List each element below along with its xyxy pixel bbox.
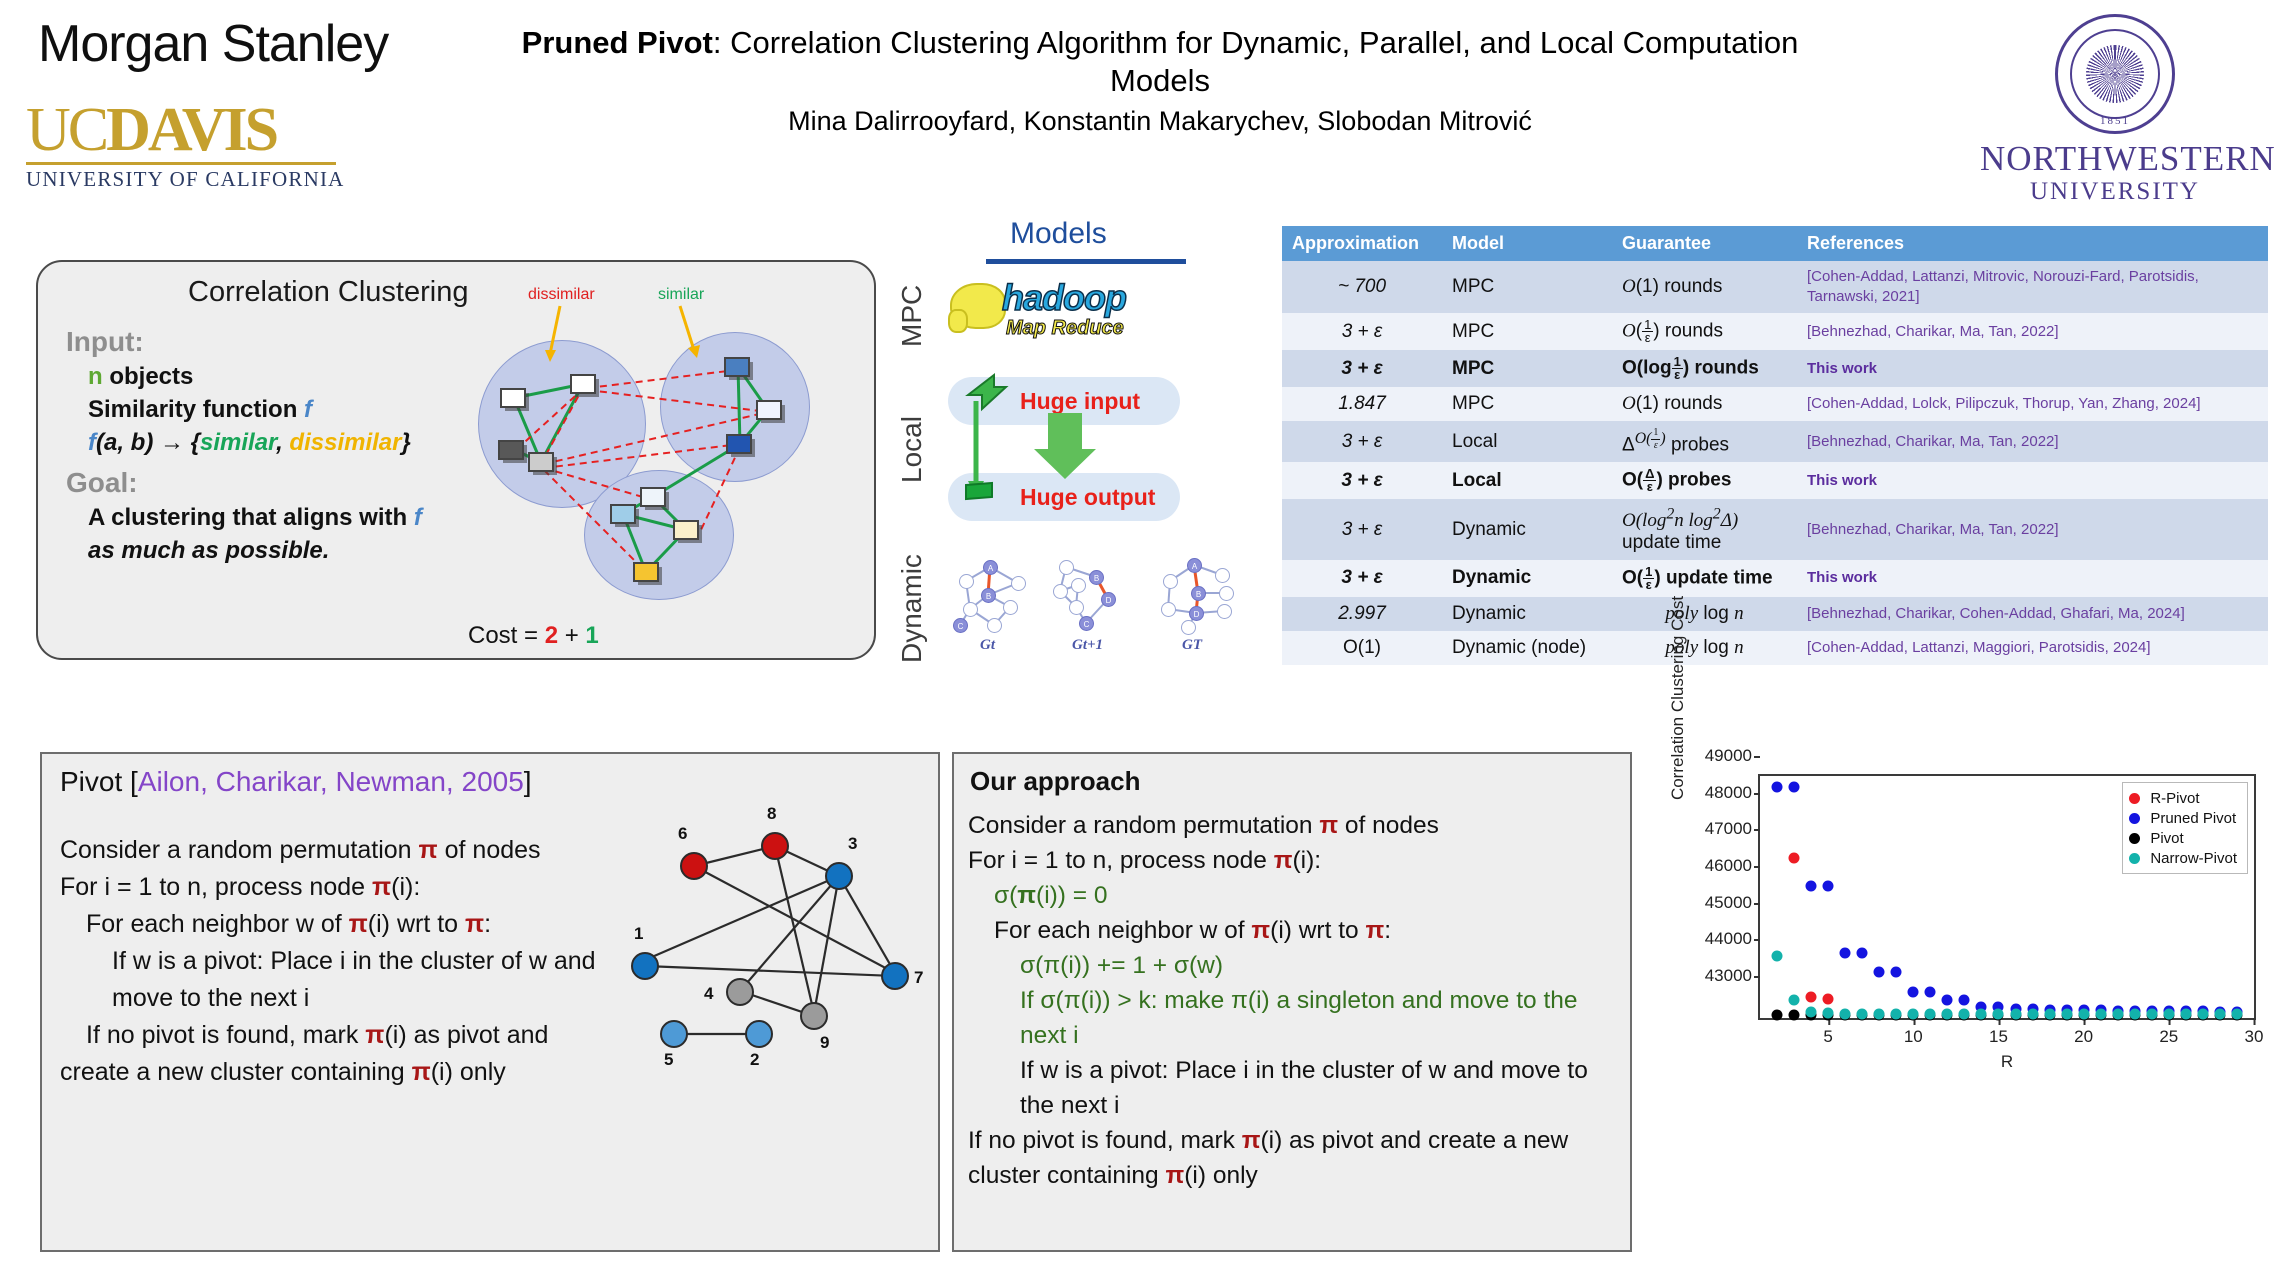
chart-point <box>1925 987 1936 998</box>
seal-year-text: 1851 <box>2058 115 2172 127</box>
dynamic-graph-3: A B D <box>1158 555 1248 631</box>
page-title: Pruned Pivot: Correlation Clustering Alg… <box>470 24 1850 100</box>
pivot-node-label-5: 5 <box>664 1050 673 1070</box>
hadoop-wordmark: hadoop <box>1002 277 1126 319</box>
cost-red-value: 2 <box>545 622 558 649</box>
flow-arrows <box>948 365 1248 545</box>
brace-close: } <box>401 429 410 456</box>
morgan-stanley-logo: Morgan Stanley <box>38 14 388 74</box>
pivot-line-2: For i = 1 to n, process node π(i): <box>60 869 600 906</box>
label-similar: similar <box>658 286 704 304</box>
cell-references: [Behnezhad, Charikar, Ma, Tan, 2022] <box>1797 421 2268 462</box>
column-header-guarantee: Guarantee <box>1612 226 1797 261</box>
chart-point <box>2129 1008 2140 1019</box>
uc-davis-subtitle: UNIVERSITY OF CALIFORNIA <box>26 167 345 192</box>
cell-approximation: 3 + ε <box>1282 313 1442 350</box>
object-cube <box>673 520 699 540</box>
northwestern-subtitle: UNIVERSITY <box>1980 178 2250 206</box>
chart-point <box>2095 1008 2106 1019</box>
chart-point <box>1857 947 1868 958</box>
chart-point <box>2044 1008 2055 1019</box>
results-scatter-chart: Correlation Clustering Cost 430004400045… <box>1640 760 2270 1080</box>
chart-point <box>1908 1008 1919 1019</box>
cell-approximation: 3 + ε <box>1282 560 1442 597</box>
chart-point <box>1857 1008 1868 1019</box>
legend-label: R-Pivot <box>2150 790 2199 807</box>
graph-node <box>987 618 1002 633</box>
approach-line-7: If w is a pivot: Place i in the cluster … <box>968 1053 1618 1123</box>
cell-approximation: 3 + ε <box>1282 462 1442 499</box>
graph-node <box>1011 576 1026 591</box>
chart-point <box>1823 1008 1834 1019</box>
similar-token: similar <box>200 429 276 456</box>
pivot-title-close: ] <box>524 766 532 797</box>
object-cube <box>528 452 554 472</box>
pivot-node-3 <box>825 862 853 890</box>
input-line-signature: f(a, b) → {similar, dissimilar} <box>66 426 536 459</box>
table-row: 2.997 Dynamic poly log n [Behnezhad, Cha… <box>1282 597 2268 631</box>
title-emphasis: Pruned Pivot <box>522 25 713 60</box>
cell-model: Local <box>1442 421 1612 462</box>
pivot-title: Pivot [Ailon, Charikar, Newman, 2005] <box>60 766 532 798</box>
chart-y-tick: 45000 <box>1705 893 1752 913</box>
graph-node <box>1053 584 1068 599</box>
column-header-approximation: Approximation <box>1282 226 1442 261</box>
cell-references: This work <box>1797 560 2268 597</box>
chart-point <box>2010 1008 2021 1019</box>
chart-plot-area: Correlation Clustering Cost 430004400045… <box>1758 774 2256 1020</box>
cell-guarantee: O(1) rounds <box>1612 387 1797 421</box>
cell-guarantee: O(log1ε) rounds <box>1612 350 1797 387</box>
f-args: (a, b) → { <box>96 429 200 456</box>
object-cube <box>500 388 526 408</box>
cell-approximation: 3 + ε <box>1282 499 1442 559</box>
chart-point <box>1806 991 1817 1002</box>
cell-references: [Cohen-Addad, Lattanzi, Mitrovic, Norouz… <box>1797 261 2268 313</box>
mapreduce-wordmark: Map Reduce <box>1006 317 1124 340</box>
pivot-node-label-8: 8 <box>767 804 776 824</box>
table-row: ~ 700 MPC O(1) rounds [Cohen-Addad, Latt… <box>1282 261 2268 313</box>
graph-node <box>1069 600 1084 615</box>
chart-x-tick: 15 <box>1989 1027 2008 1047</box>
cell-references: [Behnezhad, Charikar, Cohen-Addad, Ghafa… <box>1797 597 2268 631</box>
table-row: 1.847 MPC O(1) rounds [Cohen-Addad, Lolc… <box>1282 387 2268 421</box>
cell-model: MPC <box>1442 387 1612 421</box>
pivot-graph-edges <box>612 778 932 1118</box>
graph-node-a: A <box>983 560 998 575</box>
chart-x-axis-label: R <box>1760 1052 2254 1072</box>
chart-point <box>1993 1008 2004 1019</box>
cell-approximation: 3 + ε <box>1282 421 1442 462</box>
cell-model: Dynamic <box>1442 597 1612 631</box>
our-approach-text: Consider a random permutation π of nodes… <box>968 808 1618 1193</box>
graph-node-d: D <box>1189 606 1204 621</box>
legend-label: Narrow-Pivot <box>2150 850 2237 867</box>
chart-point <box>1806 1006 1817 1017</box>
graph-node <box>1181 620 1196 635</box>
pivot-line-3: For each neighbor w of π(i) wrt to π: <box>60 906 600 943</box>
cell-approximation: O(1) <box>1282 631 1442 665</box>
table-row: 3 + ε Dynamic O(log2n log2Δ)update time … <box>1282 499 2268 559</box>
cell-approximation: 1.847 <box>1282 387 1442 421</box>
chart-point <box>1891 1008 1902 1019</box>
chart-point <box>2214 1008 2225 1019</box>
chart-point <box>1840 947 1851 958</box>
clustering-diagram: dissimilar similar <box>468 292 868 632</box>
northwestern-logo: 1851 NORTHWESTERN UNIVERSITY <box>1980 14 2250 206</box>
chart-y-tick: 46000 <box>1705 856 1752 876</box>
chart-point <box>1789 994 1800 1005</box>
dissimilar-token: dissimilar <box>289 429 401 456</box>
graph-node <box>1219 586 1234 601</box>
approach-line-5: σ(π(i)) += 1 + σ(w) <box>968 948 1618 983</box>
comma-token: , <box>276 429 289 456</box>
correlation-clustering-panel: Correlation Clustering Input: n objects … <box>36 260 876 660</box>
dynamic-graph-1: A B C <box>952 555 1042 631</box>
graph-node <box>1059 560 1074 575</box>
pivot-node-label-9: 9 <box>820 1033 829 1053</box>
chart-legend: R-PivotPruned PivotPivotNarrow-Pivot <box>2122 782 2248 874</box>
model-label-local: Local <box>896 416 928 483</box>
graph-node <box>963 602 978 617</box>
chart-point <box>1959 1008 1970 1019</box>
label-dissimilar: dissimilar <box>528 286 595 304</box>
goal-text: A clustering that aligns with <box>88 504 414 531</box>
cell-model: Dynamic (node) <box>1442 631 1612 665</box>
chart-point <box>1874 1008 1885 1019</box>
chart-y-tick: 44000 <box>1705 929 1752 949</box>
cost-green-value: 1 <box>585 622 598 649</box>
pivot-node-label-6: 6 <box>678 824 687 844</box>
pivot-node-label-4: 4 <box>704 984 713 1004</box>
legend-item[interactable]: Narrow-Pivot <box>2129 848 2237 868</box>
table-header-row: Approximation Model Guarantee References <box>1282 226 2268 261</box>
chart-point <box>1942 1008 1953 1019</box>
chart-point <box>1925 1008 1936 1019</box>
chart-point <box>1772 951 1783 962</box>
approach-line-8: If no pivot is found, mark π(i) as pivot… <box>968 1123 1618 1193</box>
chart-point <box>2146 1008 2157 1019</box>
correlation-clustering-title: Correlation Clustering <box>188 276 468 309</box>
results-table: Approximation Model Guarantee References… <box>1282 226 2268 665</box>
pivot-node-label-3: 3 <box>848 834 857 854</box>
pivot-line-1: Consider a random permutation π of nodes <box>60 832 600 869</box>
object-cube <box>610 504 636 524</box>
cell-guarantee: O(1ε) update time <box>1612 560 1797 597</box>
chart-point <box>1959 995 1970 1006</box>
graph-node-a: A <box>1187 558 1202 573</box>
cost-prefix: Cost = <box>468 622 545 649</box>
uc-davis-logo: UCDAVIS UNIVERSITY OF CALIFORNIA <box>26 100 345 192</box>
object-cube <box>640 487 666 507</box>
graph-node <box>1215 568 1230 583</box>
graph-node <box>1003 600 1018 615</box>
dynamic-graph-2: B D C <box>1050 555 1140 631</box>
f-symbol-2: f <box>88 429 96 456</box>
cell-guarantee: poly log n <box>1612 597 1797 631</box>
graph-node-c: C <box>1079 616 1094 631</box>
chart-point <box>1823 881 1834 892</box>
chart-y-axis-label: Correlation Clustering Cost <box>1668 578 1688 818</box>
chart-x-tick: 20 <box>2074 1027 2093 1047</box>
models-underline <box>986 259 1186 264</box>
input-heading: Input: <box>66 324 536 360</box>
chart-x-tick: 5 <box>1823 1027 1832 1047</box>
cell-approximation: 3 + ε <box>1282 350 1442 387</box>
pivot-line-4: If w is a pivot: Place i in the cluster … <box>60 943 600 1017</box>
approach-line-2: For i = 1 to n, process node π(i): <box>968 843 1618 878</box>
pivot-node-label-2: 2 <box>750 1050 759 1070</box>
goal-line-1: A clustering that aligns with f <box>66 501 536 534</box>
cost-label: Cost = 2 + 1 <box>468 622 599 650</box>
f-symbol-3: f <box>414 504 422 531</box>
cell-approximation: ~ 700 <box>1282 261 1442 313</box>
graph-node-b: B <box>1089 570 1104 585</box>
authors-line: Mina Dalirrooyfard, Konstantin Makaryche… <box>470 103 1850 139</box>
object-cube <box>633 562 659 582</box>
table-row: 3 + ε Local ΔO(1ε) probes [Behnezhad, Ch… <box>1282 421 2268 462</box>
input-line-similarity: Similarity function f <box>66 393 536 426</box>
model-label-mpc: MPC <box>896 285 928 347</box>
chart-x-tick: 25 <box>2159 1027 2178 1047</box>
chart-point <box>2061 1008 2072 1019</box>
chart-point <box>1823 993 1834 1004</box>
pivot-algorithm-text: Consider a random permutation π of nodes… <box>60 832 600 1091</box>
uc-davis-davis-text: DAVIS <box>106 96 276 164</box>
pivot-title-text: Pivot [ <box>60 766 138 797</box>
chart-point <box>1789 782 1800 793</box>
graph-node <box>1217 604 1232 619</box>
graph-node-b: B <box>981 588 996 603</box>
pivot-node-9 <box>800 1002 828 1030</box>
title-remainder: : Correlation Clustering Algorithm for D… <box>713 25 1799 98</box>
cell-guarantee: O(1ε) rounds <box>1612 313 1797 350</box>
correlation-clustering-body: Input: n objects Similarity function f f… <box>66 324 536 567</box>
chart-point <box>1772 782 1783 793</box>
approach-line-1: Consider a random permutation π of nodes <box>968 808 1618 843</box>
legend-item[interactable]: R-Pivot <box>2129 788 2237 808</box>
cell-model: Local <box>1442 462 1612 499</box>
pivot-node-4 <box>726 978 754 1006</box>
northwestern-seal-icon: 1851 <box>2055 14 2175 134</box>
elephant-icon <box>950 283 1006 329</box>
chart-x-tick: 10 <box>1904 1027 1923 1047</box>
cell-approximation: 2.997 <box>1282 597 1442 631</box>
pivot-node-1 <box>631 952 659 980</box>
objects-text: objects <box>103 363 194 390</box>
legend-label: Pivot <box>2150 830 2183 847</box>
results-table-wrapper: Approximation Model Guarantee References… <box>1282 226 2268 665</box>
object-cube <box>756 400 782 420</box>
pivot-citation: Ailon, Charikar, Newman, 2005 <box>138 766 524 797</box>
pivot-panel: Pivot [Ailon, Charikar, Newman, 2005] Co… <box>40 752 940 1252</box>
chart-point <box>1772 1010 1783 1021</box>
approach-line-3: σ(π(i)) = 0 <box>968 878 1618 913</box>
chart-point <box>2163 1008 2174 1019</box>
chart-x-tick: 30 <box>2245 1027 2264 1047</box>
chart-point <box>2180 1008 2191 1019</box>
legend-dot-icon <box>2129 793 2140 804</box>
cell-model: MPC <box>1442 261 1612 313</box>
approach-line-4: For each neighbor w of π(i) wrt to π: <box>968 913 1618 948</box>
graph-node <box>959 574 974 589</box>
cell-model: Dynamic <box>1442 560 1612 597</box>
chart-y-tick: 47000 <box>1705 819 1752 839</box>
graph-caption-gt1: Gt+1 <box>1072 637 1103 654</box>
object-cube <box>498 440 524 460</box>
n-symbol: n <box>88 363 103 390</box>
cost-plus: + <box>558 622 585 649</box>
cell-references: [Cohen-Addad, Lattanzi, Maggiori, Parots… <box>1797 631 2268 665</box>
object-cube <box>726 434 752 454</box>
legend-dot-icon <box>2129 833 2140 844</box>
graph-node <box>1163 574 1178 589</box>
goal-heading: Goal: <box>66 465 536 501</box>
cell-references: [Behnezhad, Charikar, Ma, Tan, 2022] <box>1797 499 2268 559</box>
cell-guarantee: poly log n <box>1612 631 1797 665</box>
cell-guarantee: O(log2n log2Δ)update time <box>1612 499 1797 559</box>
cell-model: MPC <box>1442 350 1612 387</box>
legend-item[interactable]: Pivot <box>2129 828 2237 848</box>
cell-model: MPC <box>1442 313 1612 350</box>
object-cube <box>724 357 750 377</box>
chart-point <box>1976 1008 1987 1019</box>
northwestern-wordmark: NORTHWESTERN <box>1980 140 2250 178</box>
pivot-node-7 <box>881 962 909 990</box>
graph-node-c: C <box>953 618 968 633</box>
cell-model: Dynamic <box>1442 499 1612 559</box>
chart-point <box>1874 967 1885 978</box>
models-column: Models MPC Local Dynamic hadoop Map Redu… <box>890 215 1280 675</box>
chart-point <box>1891 967 1902 978</box>
pivot-node-label-1: 1 <box>634 924 643 944</box>
cell-references: [Behnezhad, Charikar, Ma, Tan, 2022] <box>1797 313 2268 350</box>
cell-references: This work <box>1797 462 2268 499</box>
pivot-node-label-7: 7 <box>914 968 923 988</box>
chart-point <box>2197 1008 2208 1019</box>
chart-point <box>1942 995 1953 1006</box>
table-row: O(1) Dynamic (node) poly log n [Cohen-Ad… <box>1282 631 2268 665</box>
pivot-example-graph: 6 8 3 1 7 4 9 5 2 <box>612 778 932 1118</box>
column-header-model: Model <box>1442 226 1612 261</box>
legend-dot-icon <box>2129 853 2140 864</box>
pivot-line-5: If no pivot is found, mark π(i) as pivot… <box>60 1017 600 1091</box>
uc-davis-uc-text: UC <box>26 96 106 164</box>
graph-caption-gt: Gt <box>980 637 995 654</box>
chart-point <box>2027 1008 2038 1019</box>
graph-node-b: B <box>1191 586 1206 601</box>
chart-point <box>1789 1010 1800 1021</box>
approach-line-6: If σ(π(i)) > k: make π(i) a singleton an… <box>968 983 1618 1053</box>
goal-line-2: as much as possible. <box>66 534 536 567</box>
column-header-references: References <box>1797 226 2268 261</box>
our-approach-title: Our approach <box>970 766 1140 797</box>
morgan-stanley-logo-text: Morgan Stanley <box>38 15 388 73</box>
pivot-node-5 <box>660 1020 688 1048</box>
models-title: Models <box>1010 217 1107 251</box>
pivot-node-8 <box>761 832 789 860</box>
table-row: 3 + ε MPC O(1ε) rounds [Behnezhad, Chari… <box>1282 313 2268 350</box>
chart-point <box>1840 1008 1851 1019</box>
graph-node <box>1071 578 1086 593</box>
f-symbol: f <box>304 396 312 423</box>
cell-guarantee: ΔO(1ε) probes <box>1612 421 1797 462</box>
legend-dot-icon <box>2129 813 2140 824</box>
cell-references: [Cohen-Addad, Lolck, Pilipczuk, Thorup, … <box>1797 387 2268 421</box>
legend-label: Pruned Pivot <box>2150 810 2236 827</box>
cell-guarantee: O(1) rounds <box>1612 261 1797 313</box>
table-row: 3 + ε Local O(Δε) probes This work <box>1282 462 2268 499</box>
similarity-text: Similarity function <box>88 396 304 423</box>
chart-point <box>1908 987 1919 998</box>
pivot-node-6 <box>680 852 708 880</box>
hadoop-logo: hadoop Map Reduce <box>950 277 1160 349</box>
table-row: 3 + ε Dynamic O(1ε) update time This wor… <box>1282 560 2268 597</box>
cell-guarantee: O(Δε) probes <box>1612 462 1797 499</box>
chart-point <box>2231 1008 2242 1019</box>
graph-caption-gT: GT <box>1182 637 1202 654</box>
chart-y-tick: 48000 <box>1705 783 1752 803</box>
legend-item[interactable]: Pruned Pivot <box>2129 808 2237 828</box>
model-label-dynamic: Dynamic <box>896 554 928 663</box>
uc-davis-wordmark: UCDAVIS <box>26 100 345 160</box>
poster-title-block: Pruned Pivot: Correlation Clustering Alg… <box>470 24 1850 139</box>
graph-node-d: D <box>1101 592 1116 607</box>
our-approach-panel: Our approach Consider a random permutati… <box>952 752 1632 1252</box>
chart-point <box>2078 1008 2089 1019</box>
chart-point <box>1806 881 1817 892</box>
chart-y-tick: 49000 <box>1705 746 1752 766</box>
object-cube <box>570 374 596 394</box>
cell-references: This work <box>1797 350 2268 387</box>
chart-point <box>1789 852 1800 863</box>
graph-node <box>1161 602 1176 617</box>
chart-point <box>2112 1008 2123 1019</box>
pivot-node-2 <box>745 1020 773 1048</box>
input-line-objects: n objects <box>66 360 536 393</box>
chart-y-tick: 43000 <box>1705 966 1752 986</box>
table-row: 3 + ε MPC O(log1ε) rounds This work <box>1282 350 2268 387</box>
